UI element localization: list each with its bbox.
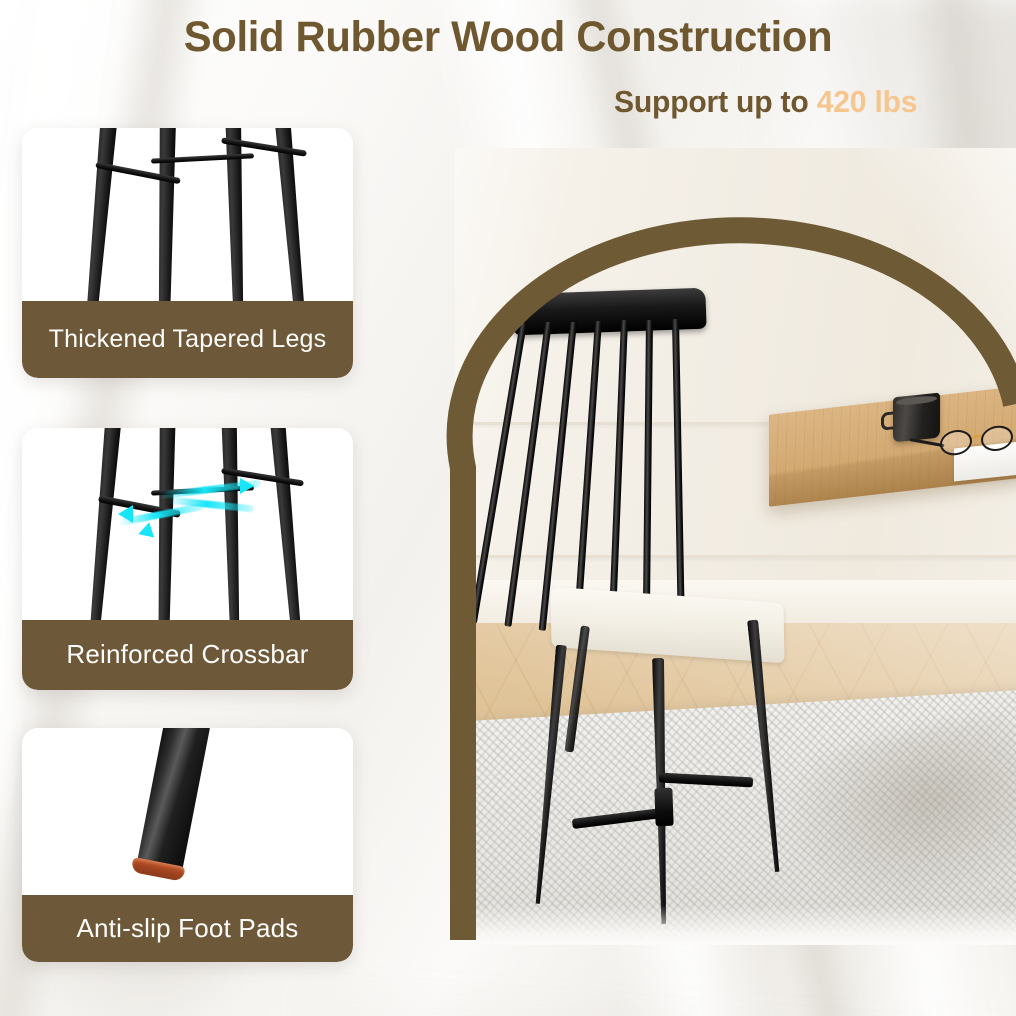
- feature-image-reinforced-crossbar: [22, 428, 353, 620]
- photo-bottom-fade: [455, 905, 1016, 945]
- chair-crossbar-illustration: [22, 428, 353, 620]
- chair-spindle: [574, 321, 603, 634]
- chair-leg: [265, 428, 311, 620]
- chair-leg: [152, 128, 181, 301]
- highlight-arrow-head: [118, 505, 133, 523]
- chair-stretcher-mid: [654, 788, 673, 827]
- feature-label-reinforced-crossbar: Reinforced Crossbar: [22, 620, 353, 690]
- glasses-lens: [940, 428, 972, 457]
- highlight-arrow-head: [240, 478, 254, 494]
- chair-stretcher-cross: [659, 773, 754, 787]
- subtitle: Support up to 420 lbs: [15, 84, 1001, 120]
- feature-image-tapered-legs: [22, 128, 353, 301]
- feature-label-anti-slip-foot-pads: Anti-slip Foot Pads: [22, 895, 353, 962]
- chair-spindle: [642, 320, 652, 640]
- chair-leg: [217, 428, 245, 620]
- infographic-stage: Solid Rubber Wood Construction Support u…: [0, 0, 1016, 1016]
- header: Solid Rubber Wood Construction Support u…: [0, 0, 1016, 120]
- feature-card-reinforced-crossbar[interactable]: Reinforced Crossbar: [22, 428, 353, 690]
- page-title: Solid Rubber Wood Construction: [15, 0, 1001, 59]
- glasses-lens: [981, 424, 1013, 453]
- chair-spindle: [608, 320, 628, 637]
- highlight-arrow-head: [136, 522, 154, 542]
- feature-card-anti-slip-foot-pads[interactable]: Anti-slip Foot Pads: [22, 728, 353, 962]
- chair-legs-illustration: [22, 128, 353, 301]
- chair-leg: [152, 428, 180, 620]
- chair-leg: [77, 128, 125, 301]
- feature-label-tapered-legs: Thickened Tapered Legs: [22, 301, 353, 378]
- subtitle-capacity-highlight: 420 lbs: [817, 84, 918, 119]
- product-photo: [455, 148, 1016, 940]
- chair-leg-front-left: [532, 645, 566, 905]
- feature-image-anti-slip-foot-pads: [22, 728, 353, 895]
- chair-spindle: [470, 323, 527, 624]
- chair-leg-end: [135, 728, 212, 879]
- feature-card-tapered-legs[interactable]: Thickened Tapered Legs: [22, 128, 353, 378]
- foot-pad-illustration: [22, 728, 353, 895]
- chair-spindle: [672, 319, 685, 642]
- subtitle-prefix: Support up to: [614, 84, 817, 119]
- dining-chair: [466, 291, 915, 925]
